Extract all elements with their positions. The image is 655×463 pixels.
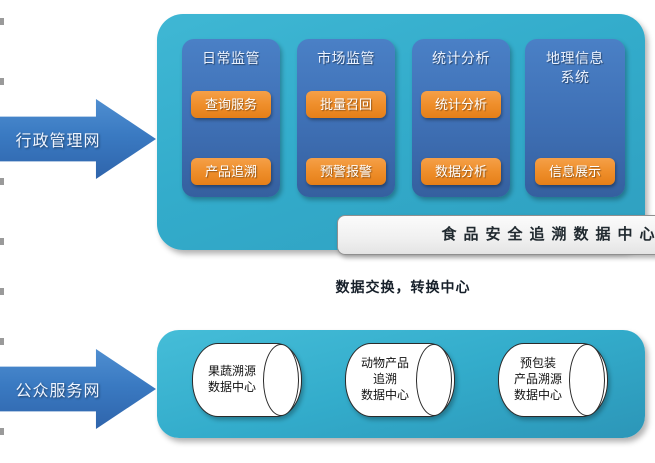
data-exchange-conversion-center-label: 数据交换，转换中心 [305,277,501,297]
module-title: 日常监管 [182,49,280,68]
page-margin-tick [0,238,4,245]
food-safety-traceability-data-center-bar: 食品安全追溯数据中心 [337,215,655,255]
page-margin-tick [0,78,4,85]
button-batch-recall[interactable]: 批量召回 [306,91,386,118]
module-statistical-analysis: 统计分析 统计分析 数据分析 [412,39,510,197]
button-information-display[interactable]: 信息展示 [535,158,615,185]
cylinder-fruit-vegetable-traceability: 果蔬溯源 数据中心 [192,343,300,415]
right-arrow-public-service-network: 公众服务网 [0,349,156,429]
page-margin-tick [0,178,4,185]
page-margin-tick [0,428,4,435]
button-data-analysis[interactable]: 数据分析 [421,158,501,185]
public-service-platform-container: 果蔬溯源 数据中心 动物产品 追溯 数据中心 预包装 产品溯源 数据中心 [157,330,645,438]
module-title: 市场监管 [297,49,395,68]
module-geographic-information-system: 地理信息 系统 信息展示 [525,39,625,197]
module-market-supervision: 市场监管 批量召回 预警报警 [297,39,395,197]
right-arrow-administrative-network: 行政管理网 [0,99,156,179]
page-margin-tick [0,18,4,25]
page-margin-tick [0,338,4,345]
side-arrow-label: 行政管理网 [6,99,110,179]
cylinder-label: 预包装 产品溯源 数据中心 [500,343,576,415]
cylinder-label: 果蔬溯源 数据中心 [194,343,270,415]
cylinder-label: 动物产品 追溯 数据中心 [347,343,423,415]
diagram-canvas: 日常监管 查询服务 产品追溯 市场监管 批量召回 预警报警 统计分析 统计分析 … [0,0,655,463]
button-statistical-analysis[interactable]: 统计分析 [421,91,501,118]
module-daily-supervision: 日常监管 查询服务 产品追溯 [182,39,280,197]
administrative-platform-container: 日常监管 查询服务 产品追溯 市场监管 批量召回 预警报警 统计分析 统计分析 … [157,14,645,250]
page-margin-tick [0,288,4,295]
cylinder-animal-product-traceability: 动物产品 追溯 数据中心 [345,343,453,415]
button-early-warning-alarm[interactable]: 预警报警 [306,158,386,185]
module-title: 统计分析 [412,49,510,68]
cylinder-prepackaged-product-traceability: 预包装 产品溯源 数据中心 [498,343,606,415]
button-product-traceability[interactable]: 产品追溯 [191,158,271,185]
module-title: 地理信息 系统 [525,49,625,87]
side-arrow-label: 公众服务网 [6,349,110,429]
button-query-service[interactable]: 查询服务 [191,91,271,118]
